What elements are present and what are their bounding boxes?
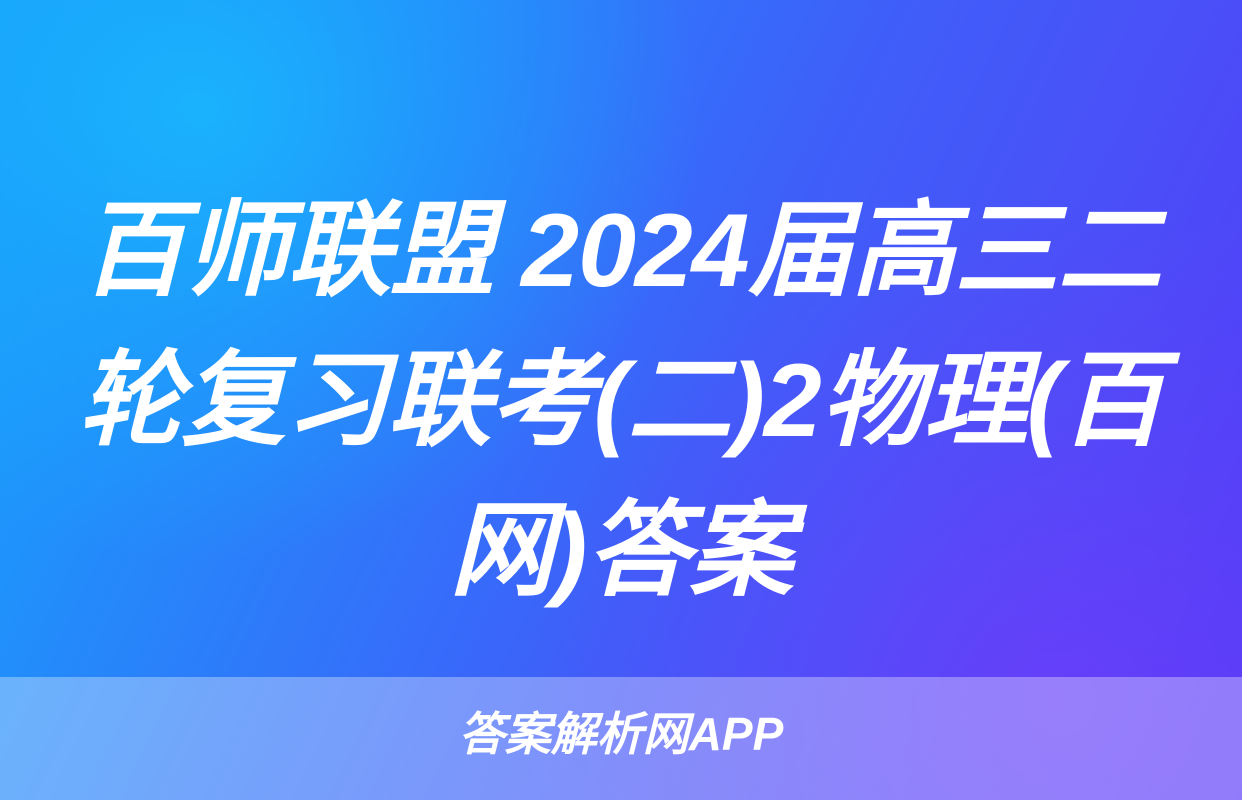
page-title-text: 百师联盟 2024届高三二轮复习联考(二)2物理(百网)答案 — [62, 176, 1180, 626]
watermark: 答案解析网APP — [0, 706, 1242, 762]
watermark-text: 答案解析网APP — [459, 706, 784, 762]
answer-banner-card: 百师联盟 2024届高三二轮复习联考(二)2物理(百网)答案 答案解析网APP — [0, 0, 1242, 800]
page-title: 百师联盟 2024届高三二轮复习联考(二)2物理(百网)答案 — [62, 176, 1180, 626]
